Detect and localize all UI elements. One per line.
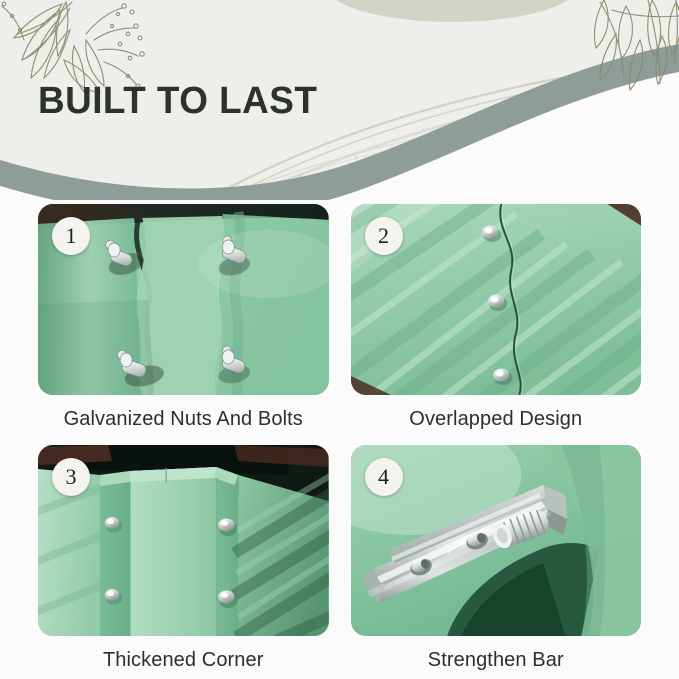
page-title: BUILT TO LAST	[38, 80, 317, 123]
feature-card-4[interactable]: 4	[351, 445, 642, 636]
feature-badge-1: 1	[52, 217, 90, 255]
feature-card-1[interactable]: 1	[38, 204, 329, 395]
feature-card-3[interactable]: 3	[38, 445, 329, 636]
feature-grid: 1 Galvanized Nuts And Bolts	[0, 200, 679, 679]
feature-caption-1: Galvanized Nuts And Bolts	[64, 408, 303, 431]
feature-badge-4: 4	[365, 458, 403, 496]
feature-item-4: 4 Strengthen Bar	[351, 445, 642, 679]
header-banner: BUILT TO LAST	[0, 0, 679, 200]
feature-badge-2: 2	[365, 217, 403, 255]
feature-item-2: 2 Overlapped Design	[351, 204, 642, 439]
feature-caption-2: Overlapped Design	[409, 408, 582, 431]
feature-badge-3: 3	[52, 458, 90, 496]
feature-item-1: 1 Galvanized Nuts And Bolts	[38, 204, 329, 439]
feature-item-3: 3 Thickened Corner	[38, 445, 329, 679]
feature-caption-3: Thickened Corner	[103, 649, 264, 672]
feature-card-2[interactable]: 2	[351, 204, 642, 395]
feature-caption-4: Strengthen Bar	[428, 649, 564, 672]
